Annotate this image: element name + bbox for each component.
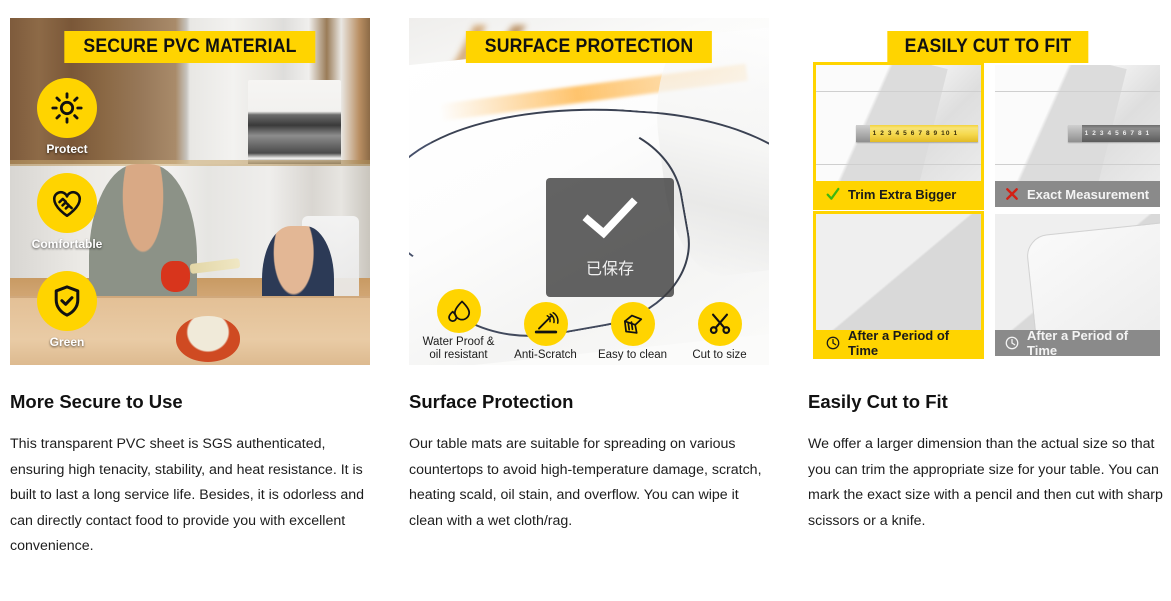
benefit-icon-row: Water Proof & oil resistant Anti-Scratch xyxy=(409,289,769,363)
anti-scratch-icon xyxy=(524,302,568,346)
quadrant-trim-extra-bigger: 1 2 3 4 5 6 7 8 9 10 1 Trim Extra Bigger xyxy=(816,65,981,207)
benefit-cut-to-size: Cut to size xyxy=(678,302,762,363)
benefit-easy-to-clean: Easy to clean xyxy=(591,302,675,363)
benefit-label: Anti-Scratch xyxy=(504,349,588,363)
text-block-cut: Easily Cut to Fit We offer a larger dime… xyxy=(808,365,1168,534)
cut-to-fit-image: EASILY CUT TO FIT 1 2 3 4 5 6 7 8 9 10 1 xyxy=(808,18,1168,365)
feature-label: Comfortable xyxy=(25,237,109,251)
check-icon xyxy=(582,197,638,239)
media-secure-pvc[interactable]: SECURE PVC MATERIAL Protect xyxy=(10,18,370,365)
heart-handshake-icon xyxy=(37,173,97,233)
benefit-anti-scratch: Anti-Scratch xyxy=(504,302,588,363)
quadrant-exact-measurement: 1 2 3 4 5 6 7 8 1 Exact Measurement xyxy=(995,65,1160,207)
product-feature-page: SECURE PVC MATERIAL Protect xyxy=(0,0,1171,601)
page-title-surface: Surface Protection xyxy=(409,392,769,412)
body-text-surface: Our table mats are suitable for spreadin… xyxy=(409,432,769,534)
green-check-icon xyxy=(825,186,841,202)
food-bowl xyxy=(176,316,241,361)
media-surface-protection[interactable]: SURFACE PROTECTION 已保存 xyxy=(409,18,769,365)
benefit-label: Water Proof & oil resistant xyxy=(417,336,501,363)
saved-toast: 已保存 xyxy=(546,178,674,297)
benefit-label: Cut to size xyxy=(678,349,762,363)
quadrant-caption: Trim Extra Bigger xyxy=(816,181,981,207)
caption-text: After a Period of Time xyxy=(848,328,981,356)
comparison-grid: 1 2 3 4 5 6 7 8 9 10 1 Trim Extra Bigger xyxy=(816,65,1160,356)
body-text-cut: We offer a larger dimension than the act… xyxy=(808,432,1168,534)
feature-column-surface: SURFACE PROTECTION 已保存 xyxy=(409,0,769,559)
banner-secure-pvc: SECURE PVC MATERIAL xyxy=(64,31,315,63)
sun-icon xyxy=(37,78,97,138)
caption-text: Trim Extra Bigger xyxy=(848,187,956,202)
banner-surface-protection: SURFACE PROTECTION xyxy=(466,31,712,63)
benefit-waterproof: Water Proof & oil resistant xyxy=(417,289,501,363)
page-title-cut: Easily Cut to Fit xyxy=(808,392,1168,412)
clock-icon xyxy=(1004,335,1020,351)
text-block-secure: More Secure to Use This transparent PVC … xyxy=(10,365,370,559)
feature-column-cut: EASILY CUT TO FIT 1 2 3 4 5 6 7 8 9 10 1 xyxy=(808,0,1168,559)
red-cross-icon xyxy=(1004,186,1020,202)
feature-column-secure: SECURE PVC MATERIAL Protect xyxy=(10,0,370,559)
quadrant-caption: After a Period of Time xyxy=(816,330,981,356)
caption-text: Exact Measurement xyxy=(1027,187,1149,202)
quadrant-after-time-bad: After a Period of Time xyxy=(995,214,1160,356)
measuring-tape: 1 2 3 4 5 6 7 8 1 xyxy=(1068,125,1160,142)
benefit-label: Easy to clean xyxy=(591,349,675,363)
red-cup xyxy=(161,261,190,292)
tape-numbers: 1 2 3 4 5 6 7 8 1 xyxy=(1082,130,1151,137)
tape-numbers: 1 2 3 4 5 6 7 8 9 10 1 xyxy=(870,130,959,137)
toast-label: 已保存 xyxy=(586,255,634,279)
feature-green: Green xyxy=(25,271,109,349)
feature-comfortable: Comfortable xyxy=(25,173,109,251)
wipe-cloth-icon xyxy=(611,302,655,346)
text-block-surface: Surface Protection Our table mats are su… xyxy=(409,365,769,534)
clock-icon xyxy=(825,335,841,351)
feature-columns: SECURE PVC MATERIAL Protect xyxy=(0,0,1171,559)
quadrant-caption: Exact Measurement xyxy=(995,181,1160,207)
feature-protect: Protect xyxy=(25,78,109,156)
scissors-icon xyxy=(698,302,742,346)
water-drop-icon xyxy=(437,289,481,333)
quadrant-caption: After a Period of Time xyxy=(995,330,1160,356)
quadrant-after-time-good: After a Period of Time xyxy=(816,214,981,356)
shield-check-icon xyxy=(37,271,97,331)
measuring-tape: 1 2 3 4 5 6 7 8 9 10 1 xyxy=(856,125,978,142)
banner-easily-cut: EASILY CUT TO FIT xyxy=(887,31,1088,63)
caption-text: After a Period of Time xyxy=(1027,328,1160,356)
feature-label: Green xyxy=(25,335,109,349)
body-text-secure: This transparent PVC sheet is SGS authen… xyxy=(10,432,370,559)
page-title-secure: More Secure to Use xyxy=(10,392,370,412)
media-easily-cut[interactable]: EASILY CUT TO FIT 1 2 3 4 5 6 7 8 9 10 1 xyxy=(808,18,1168,365)
feature-label: Protect xyxy=(25,142,109,156)
